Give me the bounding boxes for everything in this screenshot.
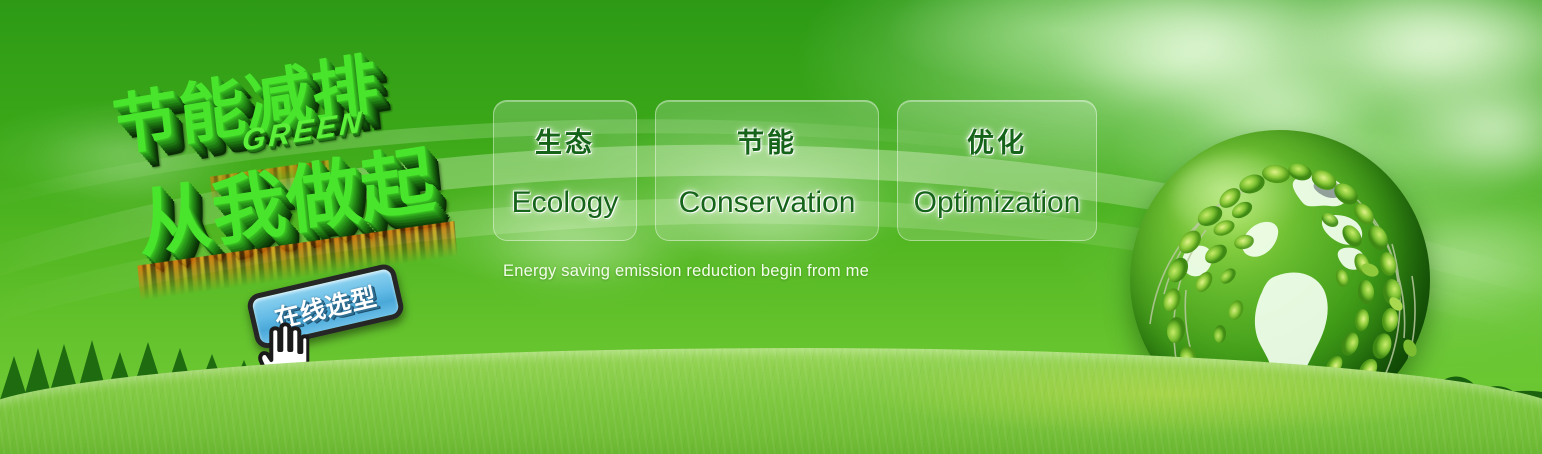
- feature-card-optimization[interactable]: 优化 Optimization: [897, 100, 1097, 241]
- falling-leaves-icon: [1070, 230, 1490, 454]
- hand-pointer-icon: [249, 318, 309, 392]
- feature-card-ecology[interactable]: 生态 Ecology: [493, 100, 637, 241]
- tagline: Energy saving emission reduction begin f…: [503, 262, 869, 281]
- cloud-icon: [1290, 0, 1542, 100]
- feature-card-en-label: Conservation: [679, 186, 856, 220]
- feature-card-en-label: Ecology: [512, 186, 619, 220]
- leafy-earth-globe-icon: [1130, 130, 1430, 430]
- feature-card-cn-label: 生态: [535, 121, 595, 160]
- feature-card-cn-label: 优化: [967, 121, 1027, 160]
- feature-card-cn-label: 节能: [737, 121, 797, 160]
- cloud-icon: [1050, 0, 1350, 110]
- feature-card-en-label: Optimization: [914, 186, 1081, 220]
- eco-banner: 节能减排 GREEN 从我做起 在线选型 生态 Ecology 节能 Conse…: [0, 0, 1542, 454]
- feature-card-conservation[interactable]: 节能 Conservation: [655, 100, 879, 241]
- feature-card-list: 生态 Ecology 节能 Conservation 优化 Optimizati…: [493, 100, 1097, 241]
- headline-3d: 节能减排 GREEN 从我做起: [89, 21, 498, 284]
